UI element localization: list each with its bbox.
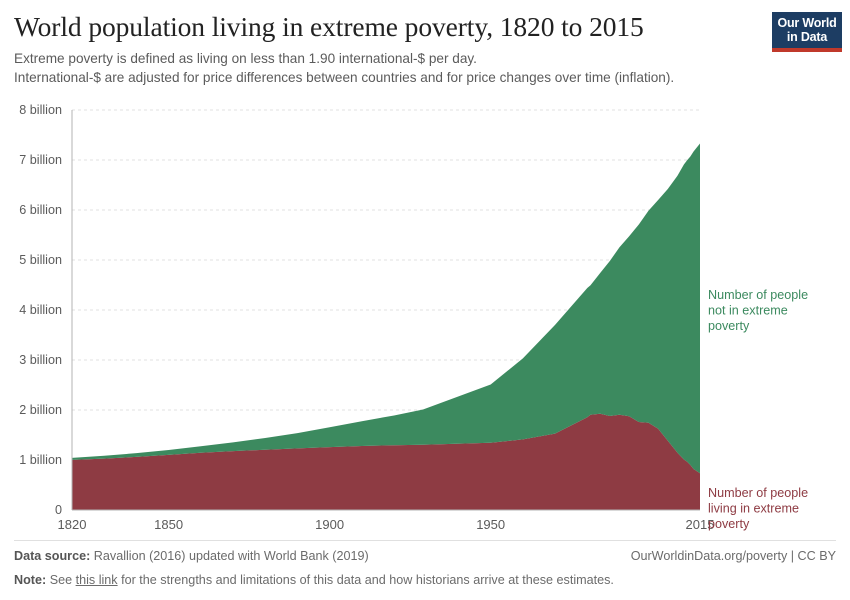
footnote: Note: See this link for the strengths an…: [14, 573, 614, 587]
subtitle-line-2: International-$ are adjusted for price d…: [14, 68, 834, 87]
page-title: World population living in extreme pover…: [14, 10, 834, 44]
data-source-value: Ravallion (2016) updated with World Bank…: [94, 549, 369, 563]
series-label-0-line-2: poverty: [708, 517, 750, 531]
chart-header: World population living in extreme pover…: [14, 10, 834, 87]
y-tick-label-3: 3 billion: [19, 353, 62, 367]
x-tick-label-1850: 1850: [154, 517, 183, 532]
axis-lines-group: [72, 110, 700, 510]
data-source-label: Data source:: [14, 549, 90, 563]
y-tick-label-4: 4 billion: [19, 303, 62, 317]
subtitle-line-1: Extreme poverty is defined as living on …: [14, 49, 834, 68]
area-series-0: [72, 414, 700, 510]
series-labels-group: Number of peopleliving in extremepoverty…: [708, 288, 808, 531]
data-source: Data source: Ravallion (2016) updated wi…: [14, 549, 369, 563]
license-link[interactable]: OurWorldinData.org/poverty | CC BY: [631, 549, 836, 563]
series-label-1-line-0: Number of people: [708, 288, 808, 302]
series-label-1-line-2: poverty: [708, 319, 750, 333]
footnote-post: for the strengths and limitations of thi…: [121, 573, 614, 587]
y-tick-label-2: 2 billion: [19, 403, 62, 417]
y-tick-label-0: 0: [55, 503, 62, 517]
chart-plot-area: 01 billion2 billion3 billion4 billion5 b…: [0, 0, 850, 600]
stacked-area-chart: 01 billion2 billion3 billion4 billion5 b…: [0, 0, 850, 600]
chart-footer: Data source: Ravallion (2016) updated wi…: [14, 540, 836, 591]
y-tick-label-5: 5 billion: [19, 253, 62, 267]
owid-logo-line-1: Our World: [772, 16, 842, 30]
x-tick-label-1900: 1900: [315, 517, 344, 532]
x-tick-label-2015: 2015: [686, 517, 715, 532]
series-label-0-line-1: living in extreme: [708, 501, 799, 515]
y-axis-tick-labels: 01 billion2 billion3 billion4 billion5 b…: [19, 103, 62, 517]
y-tick-label-6: 6 billion: [19, 203, 62, 217]
y-tick-label-7: 7 billion: [19, 153, 62, 167]
footer-row-note: Note: See this link for the strengths an…: [14, 573, 836, 591]
x-axis-tick-labels: 18201850190019502015: [58, 517, 715, 532]
y-tick-label-1: 1 billion: [19, 453, 62, 467]
x-tick-label-1950: 1950: [476, 517, 505, 532]
y-tick-label-8: 8 billion: [19, 103, 62, 117]
area-series-group: [72, 144, 700, 511]
series-label-0-line-0: Number of people: [708, 486, 808, 500]
owid-logo[interactable]: Our World in Data: [772, 12, 842, 52]
area-series-1: [72, 144, 700, 474]
x-tick-label-1820: 1820: [58, 517, 87, 532]
chart-subtitle: Extreme poverty is defined as living on …: [14, 49, 834, 87]
footnote-link[interactable]: this link: [76, 573, 118, 587]
gridlines-group: [72, 110, 700, 460]
footnote-pre: See: [50, 573, 72, 587]
series-label-1-line-1: not in extreme: [708, 303, 788, 317]
footer-row-source: Data source: Ravallion (2016) updated wi…: [14, 549, 836, 567]
footnote-label: Note:: [14, 573, 46, 587]
owid-logo-line-2: in Data: [772, 30, 842, 44]
